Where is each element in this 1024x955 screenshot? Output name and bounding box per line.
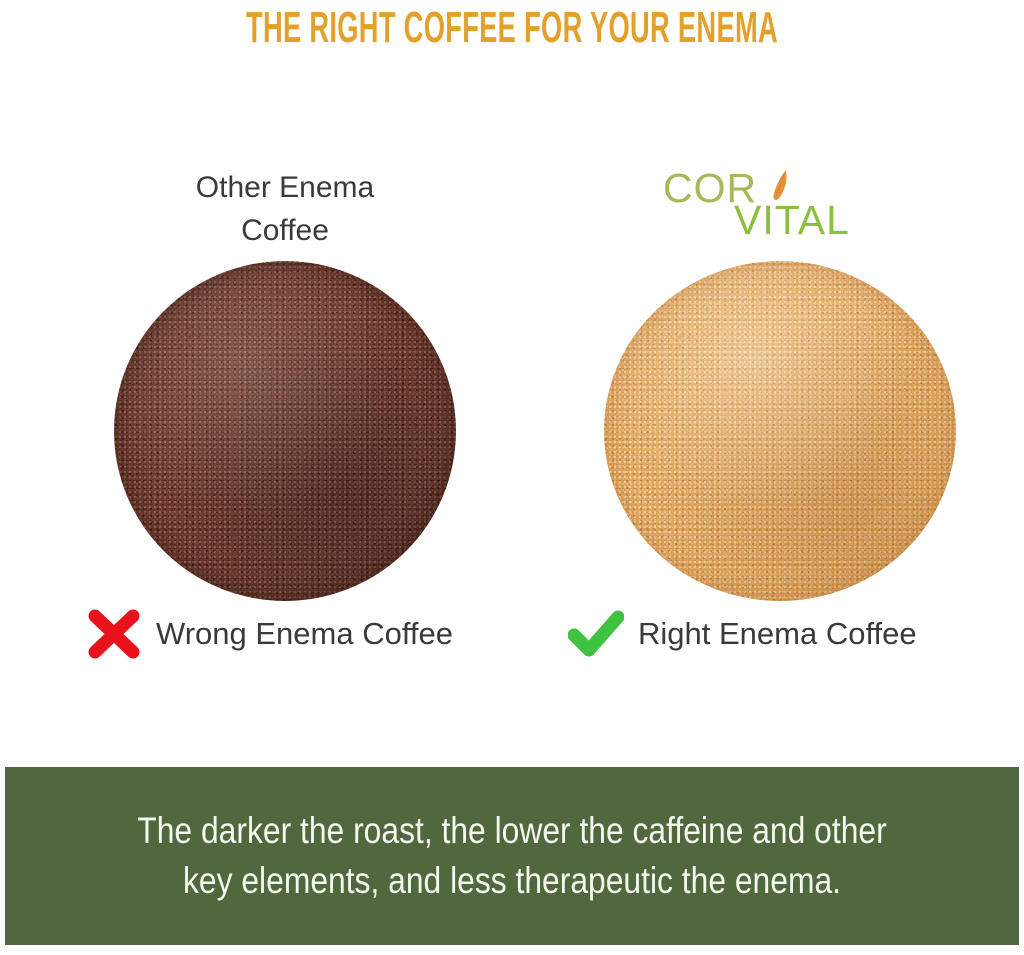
left-sample-heading: Other Enema Coffee	[115, 166, 455, 252]
left-sample-heading-line2: Coffee	[115, 209, 455, 252]
verdict-wrong: Wrong Enema Coffee	[86, 606, 453, 662]
infographic-page: THE RIGHT COFFEE FOR YOUR ENEMA Other En…	[0, 0, 1024, 955]
verdict-right: Right Enema Coffee	[568, 606, 917, 662]
page-title: THE RIGHT COFFEE FOR YOUR ENEMA	[195, 4, 830, 52]
corvital-logo: COR VITAL	[655, 168, 905, 246]
summary-banner: The darker the roast, the lower the caff…	[5, 767, 1019, 945]
coffee-sample-light-roast	[604, 261, 956, 601]
verdict-wrong-label: Wrong Enema Coffee	[156, 616, 453, 652]
cross-icon	[86, 608, 142, 660]
coffee-sample-dark-roast	[114, 261, 456, 601]
verdict-right-label: Right Enema Coffee	[638, 616, 917, 652]
corvital-logo-vital: VITAL	[734, 200, 850, 241]
summary-banner-text: The darker the roast, the lower the caff…	[76, 806, 948, 906]
left-sample-heading-line1: Other Enema	[115, 166, 455, 209]
check-icon	[568, 608, 624, 660]
